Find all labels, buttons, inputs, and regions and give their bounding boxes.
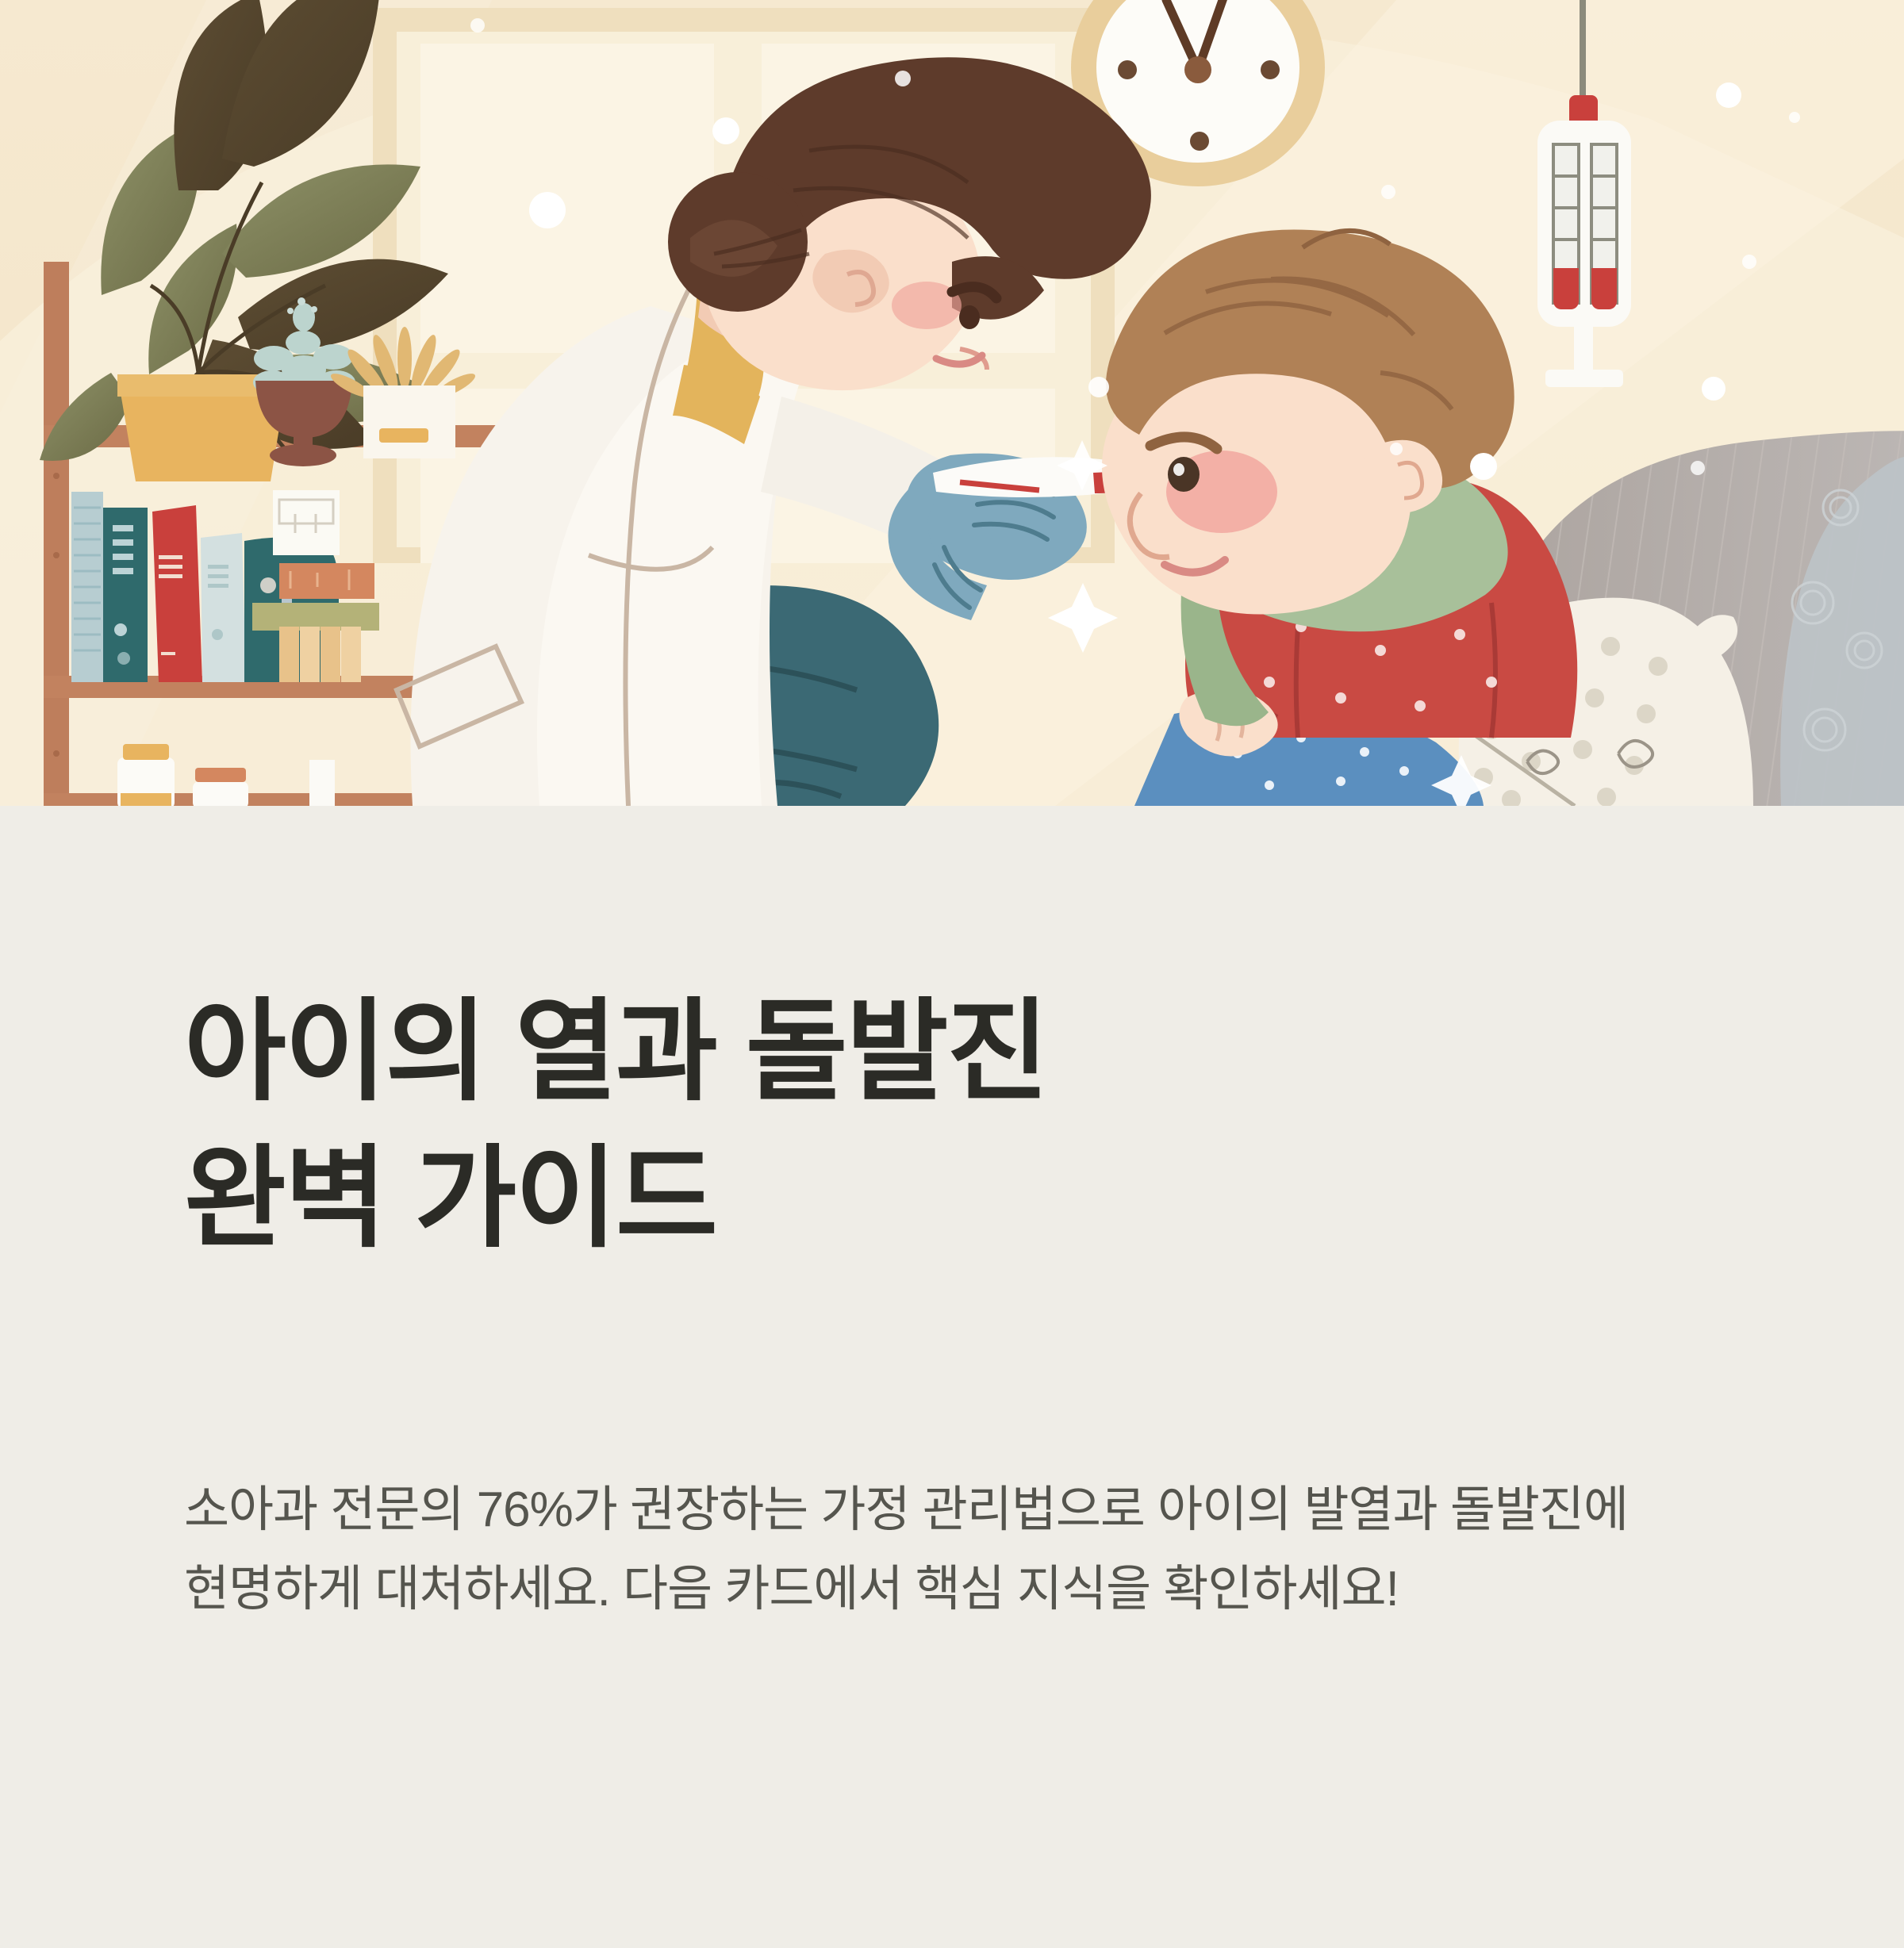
bowl-foot (270, 444, 336, 466)
hero-illustration (0, 0, 1904, 806)
page-description: 소아과 전문의 76%가 권장하는 가정 관리법으로 아이의 발열과 돌발진에 … (184, 1471, 1715, 1630)
shelf-post-left (44, 262, 69, 806)
page-title-line-2: 완벽 가이드 (184, 1125, 1739, 1272)
book-dot (260, 577, 276, 593)
page-title-line-1: 아이의 열과 돌발진 (184, 979, 1739, 1125)
thermometer-base (1545, 370, 1623, 387)
green-box (252, 603, 379, 631)
medicine-tube (309, 760, 335, 806)
thermometer-mercury-left (1553, 268, 1579, 309)
doctor-eye (959, 305, 980, 329)
book-lightblue-2 (201, 533, 246, 682)
page-title: 아이의 열과 돌발진 완벽 가이드 (184, 979, 1739, 1272)
clock-center-pin (1184, 56, 1211, 83)
small-pot-label (379, 428, 428, 443)
clock-tick-3 (1261, 60, 1280, 79)
bottle-large-label (121, 793, 171, 806)
thermometer-mercury-right (1591, 268, 1617, 309)
bottle-small-cap (195, 768, 246, 782)
orange-box (279, 563, 374, 599)
content-area: 아이의 열과 돌발진 완벽 가이드 소아과 전문의 76%가 권장하는 가정 관… (0, 806, 1904, 1948)
child-eye (1168, 457, 1200, 492)
clock-tick-6 (1190, 132, 1209, 151)
fever-guide-card: 아이의 열과 돌발진 완벽 가이드 소아과 전문의 76%가 권장하는 가정 관… (0, 0, 1904, 1948)
bottle-small (193, 781, 248, 806)
clock-tick-9 (1118, 60, 1137, 79)
small-pot (363, 385, 455, 458)
bottle-large-cap (123, 744, 169, 760)
book-red (152, 505, 202, 682)
